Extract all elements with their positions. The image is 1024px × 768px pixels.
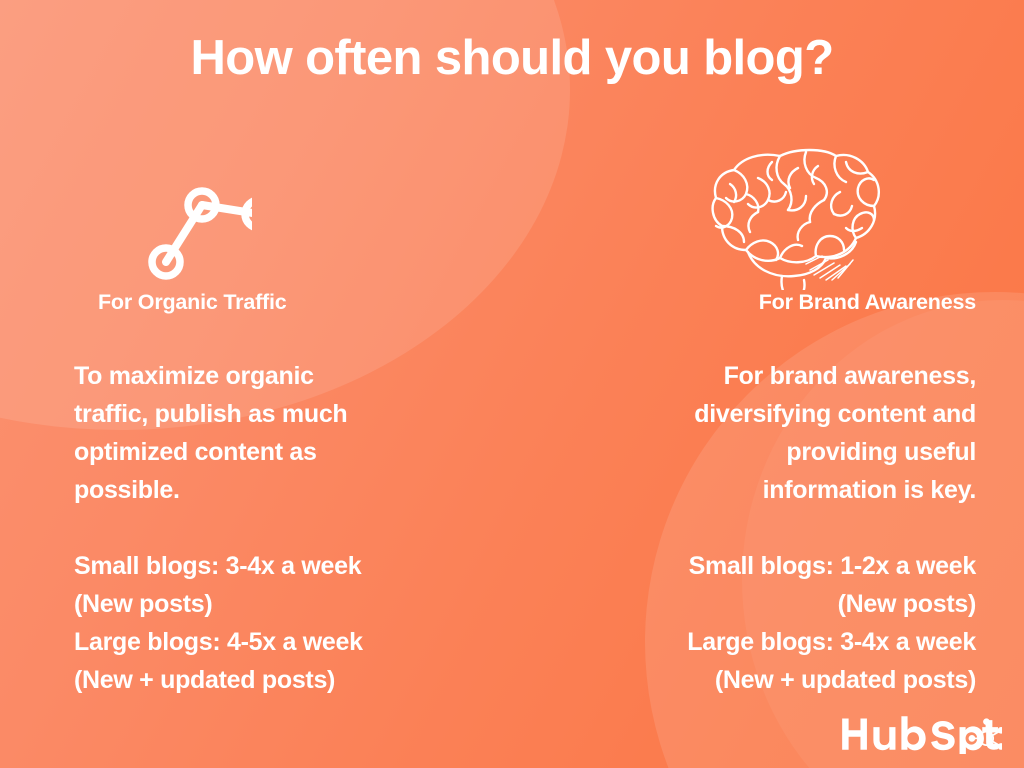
brain-icon [582, 140, 982, 290]
infographic-canvas: How often should you blog? For Organic T… [0, 0, 1024, 768]
column-stats-organic-traffic: Small blogs: 3-4x a week (New posts) Lar… [62, 547, 462, 699]
brain-icon-wrap [582, 140, 982, 290]
column-heading-organic-traffic: For Organic Traffic [62, 290, 462, 315]
page-title: How often should you blog? [0, 32, 1024, 86]
line-chart-icon-wrap [62, 140, 462, 290]
column-stats-brand-awareness: Small blogs: 1-2x a week (New posts) Lar… [582, 547, 982, 699]
hubspot-logo [840, 712, 1002, 754]
column-organic-traffic: For Organic Traffic To maximize organic … [62, 140, 462, 699]
column-heading-brand-awareness: For Brand Awareness [582, 290, 982, 315]
line-chart-icon [62, 140, 252, 290]
column-brand-awareness: For Brand Awareness For brand awareness,… [582, 140, 982, 699]
column-body-organic-traffic: To maximize organic traffic, publish as … [62, 357, 462, 509]
column-body-brand-awareness: For brand awareness, diversifying conten… [582, 357, 982, 509]
